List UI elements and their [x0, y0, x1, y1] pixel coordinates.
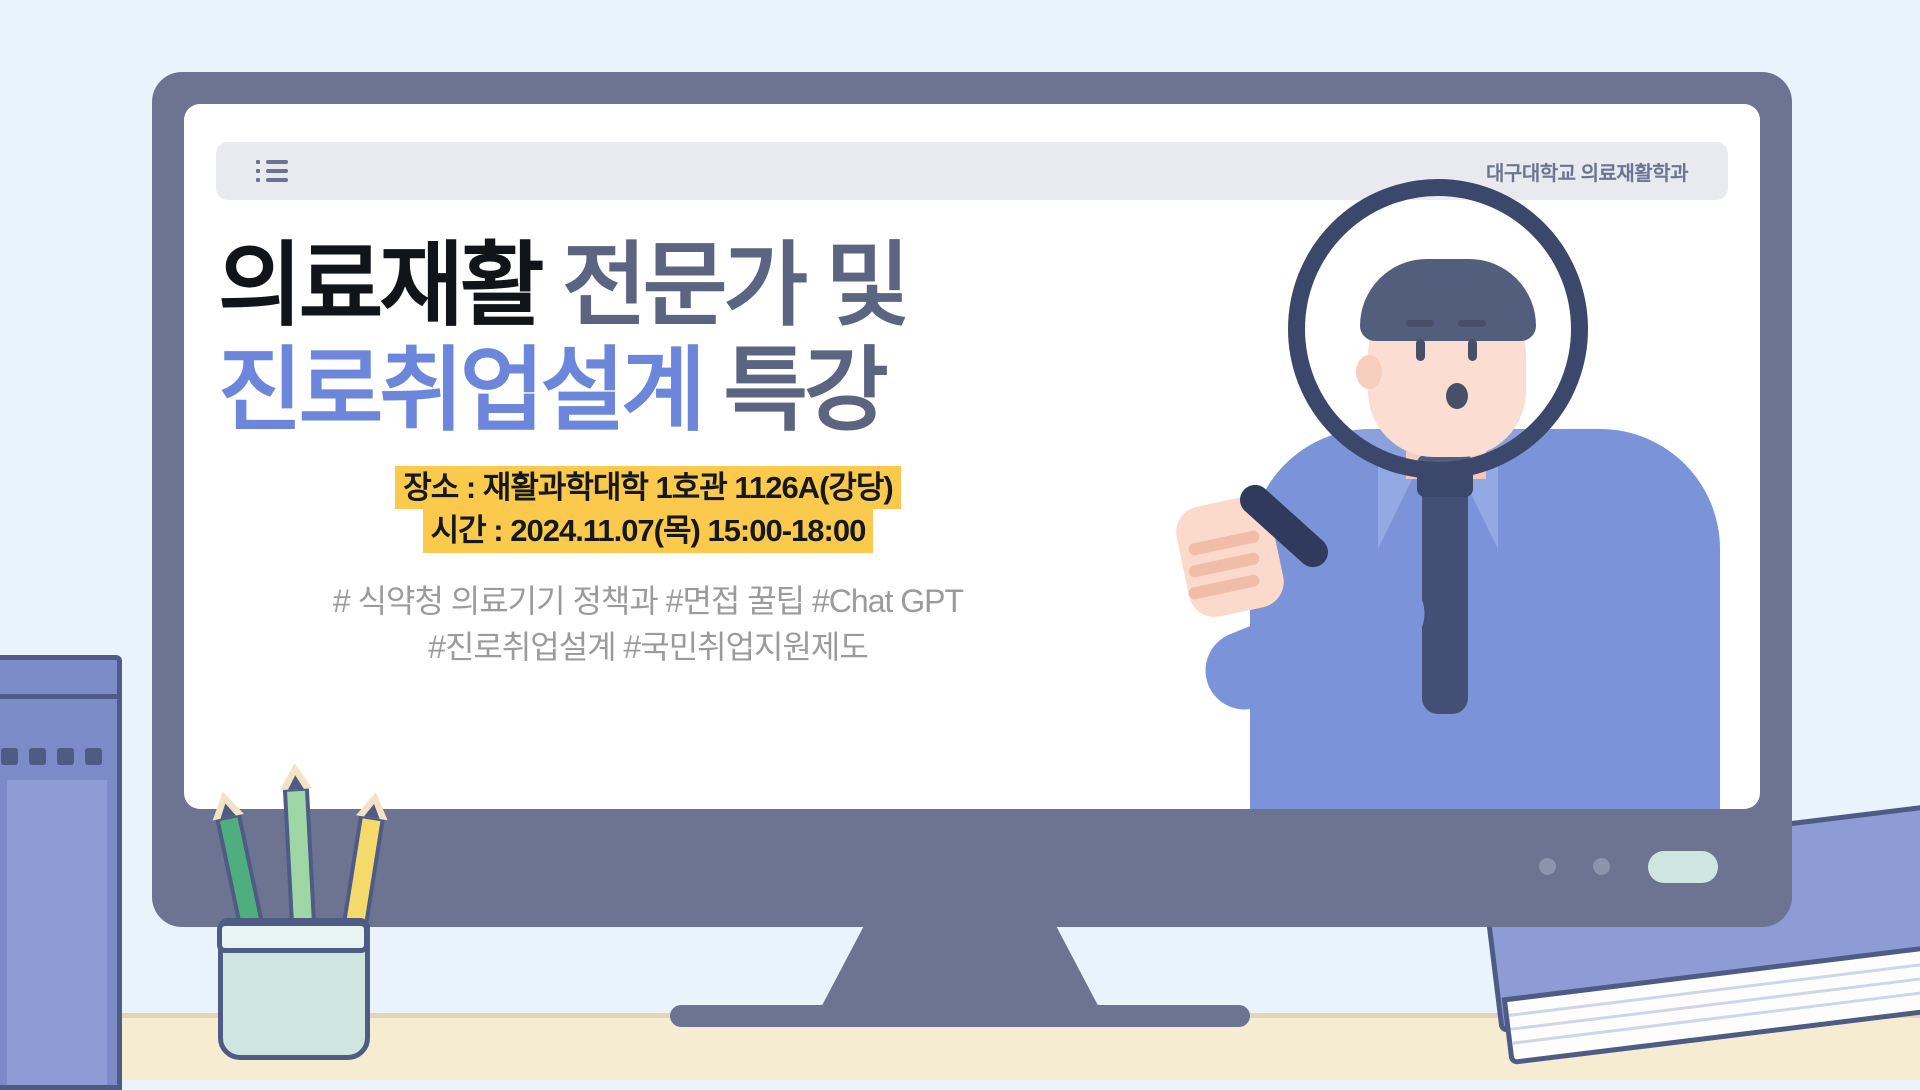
- title-line-2-rest: 특강: [723, 340, 884, 442]
- necktie: [1422, 484, 1468, 714]
- title-line-1-emphasis: 의료재활: [218, 235, 541, 337]
- title-line-1: 의료재활 전문가 및: [218, 234, 1218, 339]
- person-with-magnifier-illustration: [1210, 149, 1730, 809]
- hashtag-line-1: # 식약청 의료기기 정책과 #면접 꿀팁 #Chat GPT: [218, 579, 1078, 624]
- book-dots: [0, 748, 107, 765]
- magnifier-lens: [1288, 179, 1588, 479]
- hashtag-line-2: #진로취업설계 #국민취업지원제도: [218, 625, 1078, 670]
- pencil-cup: [218, 918, 370, 1060]
- detail-block: 장소 : 재활과학대학 1호관 1126A(강당) 시간 : 2024.11.0…: [218, 466, 1078, 553]
- monitor-neck: [865, 920, 1055, 1015]
- monitor-led-1: [1539, 858, 1556, 875]
- book-inner: [7, 780, 107, 1085]
- monitor-base: [670, 1005, 1250, 1027]
- poster-scene: 대구대학교 의료재활학과 의료재활 전문가 및 진로취업설계 특강 장소 : 재…: [0, 0, 1920, 1080]
- slide-content: 의료재활 전문가 및 진로취업설계 특강 장소 : 재활과학대학 1호관 112…: [218, 234, 1218, 670]
- detail-time: 시간 : 2024.11.07(목) 15:00-18:00: [423, 509, 874, 553]
- detail-location: 장소 : 재활과학대학 1호관 1126A(강당): [395, 466, 901, 510]
- book-stack-left: [0, 655, 122, 1090]
- monitor: 대구대학교 의료재활학과 의료재활 전문가 및 진로취업설계 특강 장소 : 재…: [152, 72, 1792, 927]
- title-line-2-emphasis: 진로취업설계: [218, 340, 702, 442]
- title-line-2: 진로취업설계 특강: [218, 339, 1218, 444]
- title-line-1-rest: 전문가 및: [562, 235, 906, 337]
- pencil-lead: [287, 775, 304, 790]
- hashtag-block: # 식약청 의료기기 정책과 #면접 꿀팁 #Chat GPT #진로취업설계 …: [218, 579, 1078, 670]
- book-band: [0, 694, 117, 699]
- monitor-screen: 대구대학교 의료재활학과 의료재활 전문가 및 진로취업설계 특강 장소 : 재…: [184, 104, 1760, 809]
- cup-rim: [217, 921, 369, 953]
- monitor-button[interactable]: [1648, 851, 1718, 883]
- monitor-led-2: [1593, 858, 1610, 875]
- list-icon[interactable]: [256, 160, 288, 182]
- pencil-lead: [364, 803, 382, 819]
